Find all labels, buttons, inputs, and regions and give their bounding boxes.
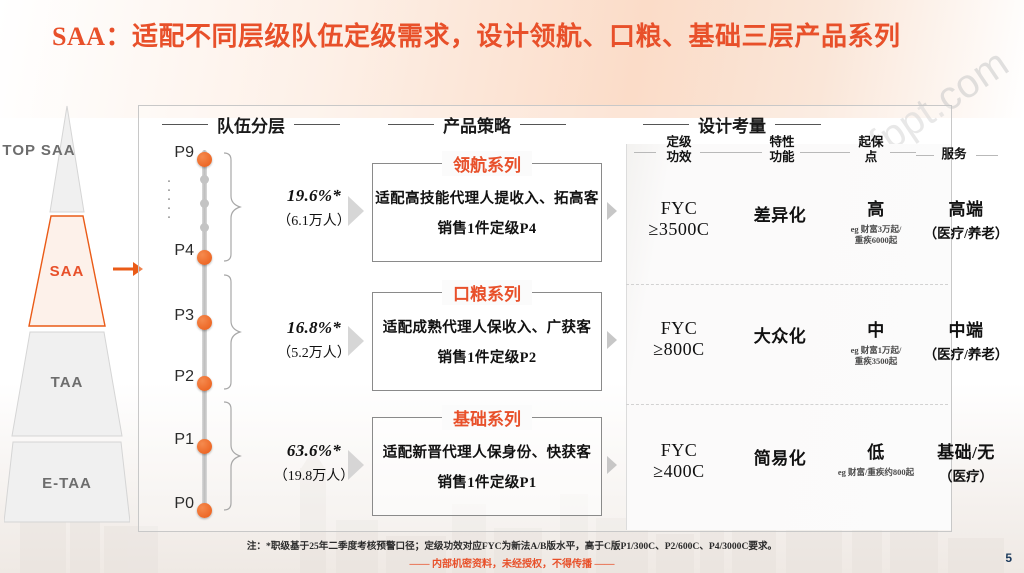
pyramid-label-saa: SAA (4, 263, 130, 280)
pyramid-shapes (4, 104, 130, 524)
column-header-line1: 服务 (932, 147, 976, 162)
level-dot-p3 (197, 315, 212, 330)
pyramid-label-top-saa: TOP SAA (0, 142, 102, 159)
cell-feature-row1: 差异化 (735, 201, 825, 226)
pyramid-label-taa: TAA (4, 374, 130, 391)
fyc-value: ≥3500C (636, 219, 722, 240)
cell-feature-row3: 简易化 (735, 444, 825, 469)
section-rule-right (294, 124, 340, 125)
product-box-pilot[interactable]: 领航系列 适配高技能代理人提收入、拓高客 销售1件定级P4 (372, 163, 602, 262)
threshold-value: 中 (833, 316, 919, 341)
level-dot-minor (200, 199, 209, 208)
service-subvalue: （医疗） (918, 465, 1014, 485)
level-dot-p1 (197, 439, 212, 454)
product-line-1: 适配新晋代理人保身份、快获客 (383, 441, 592, 462)
feature-value: 简易化 (735, 444, 825, 469)
product-title: 基础系列 (442, 405, 532, 430)
cell-threshold-row1: 高 eg 财富3万起/ 重疾6000起 (833, 195, 919, 246)
product-box-staple[interactable]: 口粮系列 适配成熟代理人保收入、广获客 销售1件定级P2 (372, 292, 602, 391)
level-dot-p2 (197, 376, 212, 391)
brace-group-1 (222, 151, 242, 263)
service-subvalue: （医疗/养老） (918, 343, 1014, 363)
threshold-example-line1: eg 财富1万起/ (833, 345, 919, 356)
threshold-example-line2: 重疾3500起 (833, 356, 919, 367)
section-header-design-considerations: 设计考量 (643, 112, 821, 137)
arrow-to-design-2-icon (607, 331, 617, 349)
section-rule-left (162, 124, 208, 125)
column-rule (890, 152, 916, 153)
threshold-example-line2: 重疾6000起 (833, 235, 919, 246)
feature-value: 大众化 (735, 322, 825, 347)
segment-pyramid: TOP SAA SAA TAA E-TAA (4, 104, 130, 524)
slide-root: xfppt.com SAA：适配不同层级队伍定级需求，设计领航、口粮、基础三层产… (0, 0, 1024, 573)
service-value: 基础/无 (918, 438, 1014, 463)
feature-value: 差异化 (735, 201, 825, 226)
column-header-line1: 特性 (753, 135, 811, 150)
service-value: 中端 (918, 316, 1014, 341)
level-dot-p9 (197, 152, 212, 167)
cell-feature-row2: 大众化 (735, 322, 825, 347)
product-line-2: 销售1件定级P4 (437, 217, 536, 238)
fyc-value: ≥800C (636, 339, 722, 360)
section-label: 产品策略 (443, 112, 511, 137)
column-rule (976, 155, 998, 156)
level-dot-p4 (197, 250, 212, 265)
row-separator-2 (626, 404, 948, 406)
cell-grading-effect-row1: FYC ≥3500C (636, 198, 722, 240)
level-label-p3: P3 (152, 307, 194, 325)
cell-threshold-row2: 中 eg 财富1万起/ 重疾3500起 (833, 316, 919, 367)
cell-service-row1: 高端 （医疗/养老） (918, 195, 1014, 242)
service-subvalue: （医疗/养老） (918, 222, 1014, 242)
section-header-team-tiers: 队伍分层 (162, 112, 340, 137)
product-line-1: 适配成熟代理人保收入、广获客 (383, 316, 592, 337)
cell-service-row3: 基础/无 （医疗） (918, 438, 1014, 485)
threshold-value: 高 (833, 195, 919, 220)
level-label-p1: P1 (152, 431, 194, 449)
column-header-line1: 定级 (650, 135, 708, 150)
cell-threshold-row3: 低 eg 财富/重疾约800起 (828, 438, 924, 478)
threshold-example-line1: eg 财富3万起/ (833, 224, 919, 235)
confidential-notice: —— 内部机密资料，未经授权，不得传播 —— (0, 555, 1024, 570)
level-dot-p0 (197, 503, 212, 518)
section-header-product-strategy: 产品策略 (388, 112, 566, 137)
fyc-label: FYC (636, 440, 722, 461)
column-header-grading-effect: 定级 功效 (650, 135, 708, 165)
level-label-p9: P9 (152, 144, 194, 162)
arrow-to-product-3-icon (348, 450, 364, 480)
column-rule (800, 152, 828, 153)
level-ellipsis: ····· (166, 178, 172, 223)
page-title: SAA：适配不同层级队伍定级需求，设计领航、口粮、基础三层产品系列 (52, 16, 901, 53)
cell-grading-effect-row2: FYC ≥800C (636, 318, 722, 360)
fyc-label: FYC (636, 198, 722, 219)
column-header-service: 服务 (932, 147, 976, 162)
cell-service-row2: 中端 （医疗/养老） (918, 316, 1014, 363)
column-header-feature-function: 特性 功能 (753, 135, 811, 165)
section-rule-right (520, 124, 566, 125)
section-rule-right (775, 124, 821, 125)
product-title: 口粮系列 (442, 280, 532, 305)
product-line-2: 销售1件定级P1 (437, 471, 536, 492)
brace-group-3 (222, 400, 242, 512)
section-label: 队伍分层 (217, 112, 285, 137)
level-dot-minor (200, 175, 209, 184)
product-title: 领航系列 (442, 151, 532, 176)
arrow-to-design-1-icon (607, 202, 617, 220)
service-value: 高端 (918, 195, 1014, 220)
level-dot-minor (200, 223, 209, 232)
page-number: 5 (1005, 551, 1012, 565)
product-box-basic[interactable]: 基础系列 适配新晋代理人保身份、快获客 销售1件定级P1 (372, 417, 602, 516)
level-label-p0: P0 (152, 495, 194, 513)
column-header-start-threshold: 起保 点 (842, 135, 900, 165)
product-line-2: 销售1件定级P2 (437, 346, 536, 367)
pyramid-label-etaa: E-TAA (4, 475, 130, 492)
arrow-to-design-3-icon (607, 456, 617, 474)
footnote: 注：*职级基于25年二季度考核预警口径；定级功效对应FYC为新法A/B版水平，高… (0, 538, 1024, 552)
level-label-p2: P2 (152, 368, 194, 386)
fyc-label: FYC (636, 318, 722, 339)
column-rule (700, 152, 740, 153)
column-header-line1: 起保 (842, 135, 900, 150)
threshold-value: 低 (828, 438, 924, 463)
row-separator-1 (626, 284, 948, 286)
fyc-value: ≥400C (636, 461, 722, 482)
section-label: 设计考量 (698, 112, 766, 137)
level-label-p4: P4 (152, 242, 194, 260)
arrow-to-product-2-icon (348, 326, 364, 356)
arrow-to-product-1-icon (348, 196, 364, 226)
brace-group-2 (222, 273, 242, 391)
cell-grading-effect-row3: FYC ≥400C (636, 440, 722, 482)
threshold-example-line1: eg 财富/重疾约800起 (828, 467, 924, 478)
section-rule-left (388, 124, 434, 125)
product-line-1: 适配高技能代理人提收入、拓高客 (375, 187, 599, 208)
section-rule-left (643, 124, 689, 125)
